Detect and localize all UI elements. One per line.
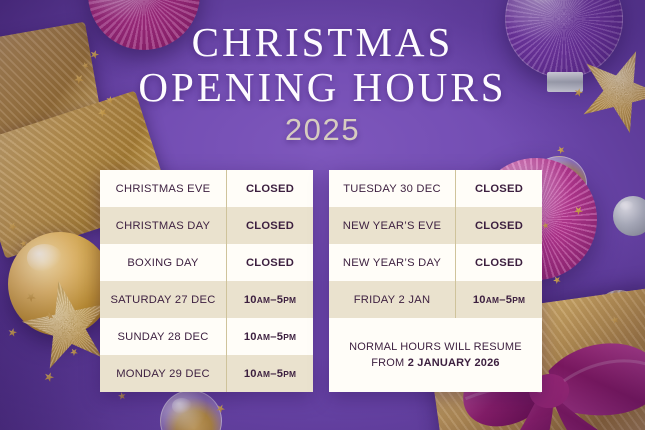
- table-row: FRIDAY 2 JAN10AM–5PM: [329, 281, 542, 318]
- cell-day-label: CHRISTMAS DAY: [100, 207, 226, 244]
- table-row: CHRISTMAS EVECLOSED: [100, 170, 313, 207]
- cell-day-label: CHRISTMAS EVE: [100, 170, 226, 207]
- cell-day-label: MONDAY 29 DEC: [100, 355, 226, 392]
- table-row: MONDAY 29 DEC10AM–5PM: [100, 355, 313, 392]
- cell-hours-value: 10AM–5PM: [226, 318, 313, 355]
- resume-note-text: NORMAL HOURS WILL RESUMEFROM 2 JANUARY 2…: [349, 339, 522, 371]
- poster-title: CHRISTMAS OPENING HOURS 2025: [0, 20, 645, 148]
- bauble-silver-small-right: [613, 196, 645, 236]
- cell-day-label: FRIDAY 2 JAN: [329, 281, 455, 318]
- cell-day-label: NEW YEAR’S EVE: [329, 207, 455, 244]
- opening-hours-table-right: TUESDAY 30 DECCLOSEDNEW YEAR’S EVECLOSED…: [329, 170, 542, 392]
- cell-hours-value: CLOSED: [455, 207, 542, 244]
- christmas-opening-hours-poster: CHRISTMAS OPENING HOURS 2025 CHRISTMAS E…: [0, 0, 645, 430]
- table-row: NEW YEAR’S EVECLOSED: [329, 207, 542, 244]
- opening-hours-table-left: CHRISTMAS EVECLOSEDCHRISTMAS DAYCLOSEDBO…: [100, 170, 313, 392]
- table-row: CHRISTMAS DAYCLOSED: [100, 207, 313, 244]
- cell-day-label: TUESDAY 30 DEC: [329, 170, 455, 207]
- cell-hours-value: CLOSED: [226, 170, 313, 207]
- cell-hours-value: 10AM–5PM: [226, 355, 313, 392]
- cell-hours-value: CLOSED: [455, 244, 542, 281]
- table-row: TUESDAY 30 DECCLOSED: [329, 170, 542, 207]
- cell-day-label: NEW YEAR’S DAY: [329, 244, 455, 281]
- cell-day-label: SATURDAY 27 DEC: [100, 281, 226, 318]
- title-year: 2025: [0, 112, 645, 148]
- cell-day-label: BOXING DAY: [100, 244, 226, 281]
- cell-hours-value: 10AM–5PM: [455, 281, 542, 318]
- cell-hours-value: CLOSED: [226, 244, 313, 281]
- cell-day-label: SUNDAY 28 DEC: [100, 318, 226, 355]
- table-row: SUNDAY 28 DEC10AM–5PM: [100, 318, 313, 355]
- resume-note-cell: NORMAL HOURS WILL RESUMEFROM 2 JANUARY 2…: [329, 318, 542, 392]
- title-line-1: CHRISTMAS: [0, 20, 645, 65]
- table-row: NEW YEAR’S DAYCLOSED: [329, 244, 542, 281]
- cell-hours-value: CLOSED: [455, 170, 542, 207]
- title-line-2: OPENING HOURS: [0, 65, 645, 110]
- table-row: BOXING DAYCLOSED: [100, 244, 313, 281]
- table-row: SATURDAY 27 DEC10AM–5PM: [100, 281, 313, 318]
- opening-hours-tables: CHRISTMAS EVECLOSEDCHRISTMAS DAYCLOSEDBO…: [100, 170, 542, 392]
- cell-hours-value: 10AM–5PM: [226, 281, 313, 318]
- cell-hours-value: CLOSED: [226, 207, 313, 244]
